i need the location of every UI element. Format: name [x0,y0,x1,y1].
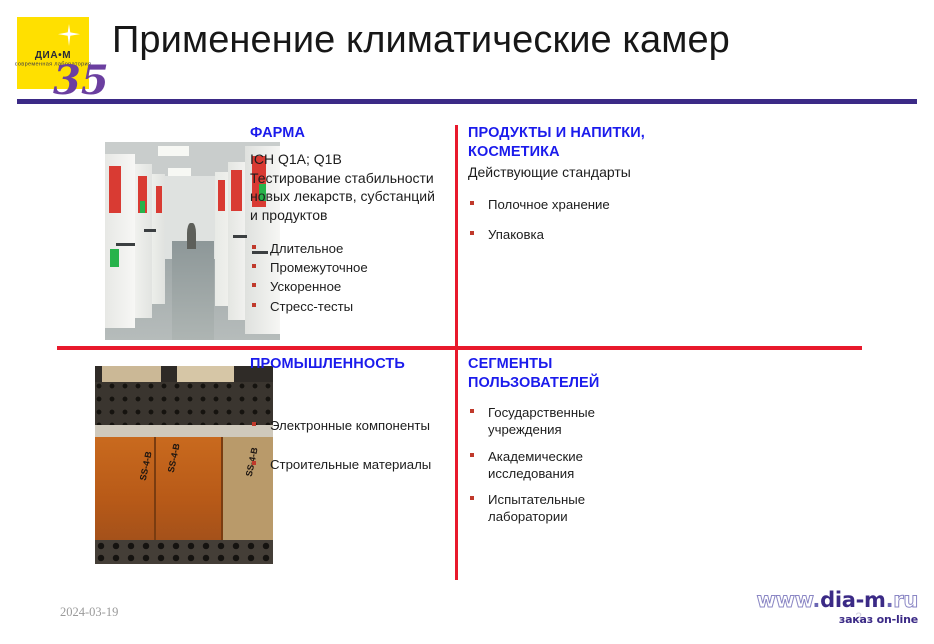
vertical-red-divider [455,125,458,580]
brand-tld: ru [893,588,918,612]
list-item: Упаковка [468,226,673,243]
bullet-icon [470,496,474,500]
bullet-icon [252,303,256,307]
quadrant-board: ФАРМА ICH Q1A; Q1B Тестирование стабильн… [0,108,934,588]
list-item: Длительное [250,240,450,257]
brand-www: www [756,588,812,612]
title-divider [17,99,917,104]
list-item: Промежуточное [250,259,450,276]
segments-bullet-list: Государственные учреждения Академические… [468,404,648,525]
quadrant-food-cosmetics: ПРОДУКТЫ И НАПИТКИ, КОСМЕТИКА Действующи… [468,125,863,340]
quadrant-industry: SS-4-B SS-4-B SS-4-B ПРОМЫШЛЕННОСТЬ Элек… [45,356,445,574]
bullet-icon [470,201,474,205]
list-item-label: Академические исследования [488,449,583,481]
list-item-label: Испытательные лаборатории [488,492,585,524]
dia-m-brand-logo[interactable]: www.dia-m.ru заказ on-line [738,590,918,634]
slide-date: 2024-03-19 [60,605,118,620]
list-item-label: Строительные материалы [270,457,431,472]
company-logo: ДИА•М современная лаборатория 35 [17,17,89,100]
bullet-icon [252,422,256,426]
brand-url: www.dia-m.ru [738,590,918,611]
brand-name: dia-m [820,588,886,612]
logo-anniversary: 35 [53,61,109,101]
bullet-icon [470,453,474,457]
quadrant-heading-food-line1: ПРОДУКТЫ И НАПИТКИ, [468,125,673,142]
bullet-icon [252,461,256,465]
list-item-label: Государственные учреждения [488,405,595,437]
bullet-icon [470,409,474,413]
list-item-label: Полочное хранение [488,197,610,212]
food-bullet-list: Полочное хранение Упаковка [468,196,673,243]
food-lead-1: Действующие стандарты [468,164,673,182]
list-item-label: Длительное [270,241,343,256]
list-item: Испытательные лаборатории [468,491,648,525]
list-item-label: Стресс-тесты [270,299,353,314]
list-item: Государственные учреждения [468,404,648,438]
bullet-icon [252,264,256,268]
list-item-label: Промежуточное [270,260,368,275]
list-item: Академические исследования [468,448,648,482]
industry-bullet-list: Электронные компоненты Строительные мате… [250,417,450,473]
bullet-icon [252,283,256,287]
list-item-label: Электронные компоненты [270,418,430,433]
list-item: Стресс-тесты [250,298,450,315]
brand-dot-1: . [812,588,820,612]
quadrant-heading-pharma: ФАРМА [250,125,450,142]
slide-header: ДИА•М современная лаборатория 35 Примене… [0,0,934,108]
building-material-samples-photo: SS-4-B SS-4-B SS-4-B [95,366,273,564]
bullet-icon [252,245,256,249]
slide-footer: 2024-03-19 3 www.dia-m.ru заказ on-line [0,588,934,644]
pharma-lead-3: новых лекарств, субстанций [250,188,450,206]
list-item: Ускоренное [250,278,450,295]
quadrant-user-segments: СЕГМЕНТЫ ПОЛЬЗОВАТЕЛЕЙ Государственные у… [468,356,863,574]
quadrant-pharma: ФАРМА ICH Q1A; Q1B Тестирование стабильн… [50,125,445,340]
page-title: Применение климатические камер [112,19,730,62]
pharma-lead-2: Тестирование стабильности [250,170,450,188]
brand-tagline: заказ on-line [738,613,918,626]
bullet-icon [470,231,474,235]
quadrant-heading-food-line2: КОСМЕТИКА [468,144,673,161]
pharma-bullet-list: Длительное Промежуточное Ускоренное Стре… [250,240,450,315]
quadrant-heading-segments-line1: СЕГМЕНТЫ [468,356,648,373]
list-item: Электронные компоненты [250,417,450,434]
list-item-label: Упаковка [488,227,544,242]
pharma-lead-1: ICH Q1A; Q1B [250,151,450,169]
horizontal-red-divider [57,346,862,350]
pharma-lead-4: и продуктов [250,207,450,225]
quadrant-heading-segments-line2: ПОЛЬЗОВАТЕЛЕЙ [468,375,648,392]
list-item-label: Ускоренное [270,279,341,294]
list-item: Строительные материалы [250,456,450,473]
star-icon [58,24,80,46]
list-item: Полочное хранение [468,196,673,213]
quadrant-heading-industry: ПРОМЫШЛЕННОСТЬ [250,356,450,373]
